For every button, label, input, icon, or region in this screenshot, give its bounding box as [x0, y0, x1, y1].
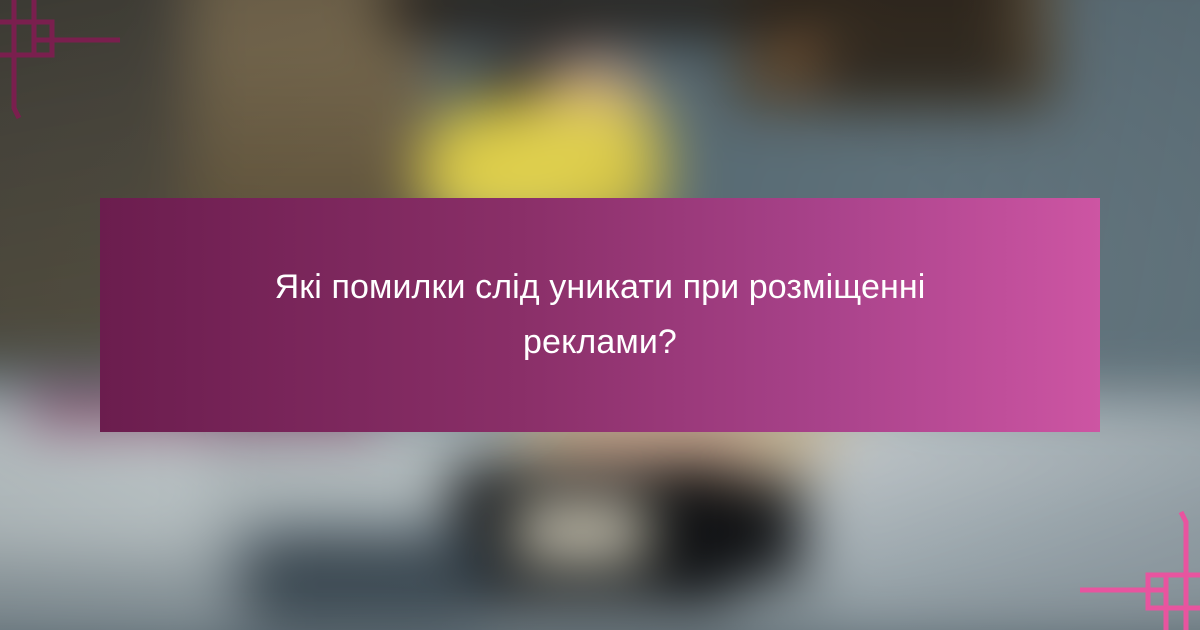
background-shelf-ledge	[727, 74, 1045, 97]
background-shelf-object-top	[770, 0, 1014, 24]
background-device-label	[515, 501, 653, 565]
background-device-body	[653, 479, 801, 580]
share-card-canvas: Які помилки слід уникати при розміщенні …	[0, 0, 1200, 630]
page-title: Які помилки слід уникати при розміщенні …	[220, 260, 980, 370]
background-shelf-shadow-band	[388, 0, 791, 34]
title-banner: Які помилки слід уникати при розміщенні …	[100, 198, 1100, 432]
background-blanket	[823, 405, 1200, 617]
background-foreground-shadow	[240, 532, 484, 627]
